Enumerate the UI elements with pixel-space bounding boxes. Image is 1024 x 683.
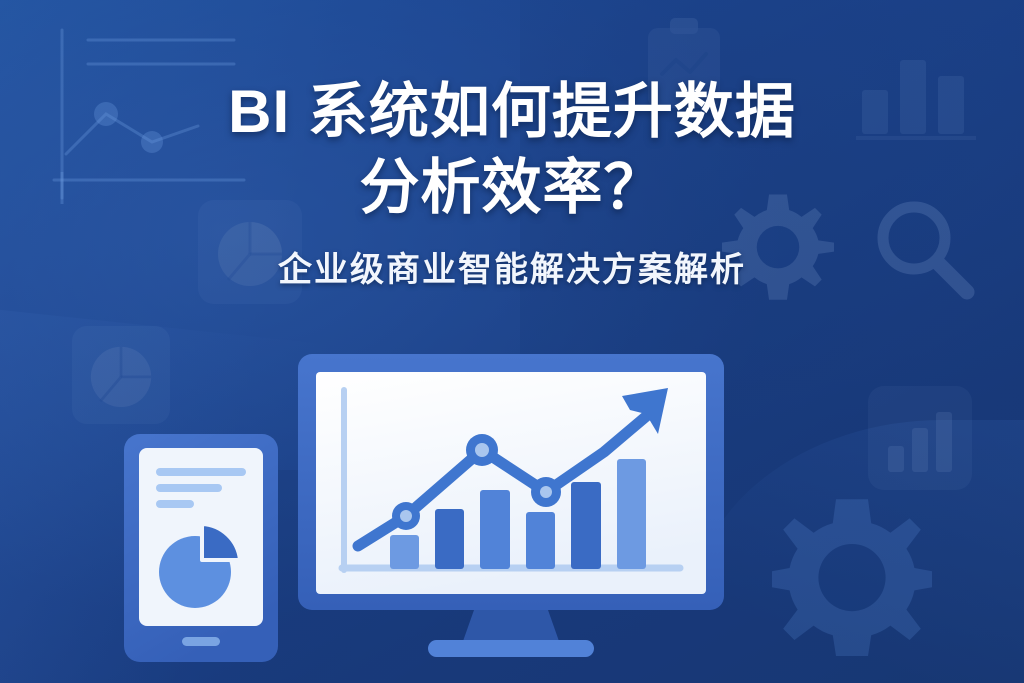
chart-bar xyxy=(571,482,601,569)
background-sweep-bottomright xyxy=(690,420,1024,683)
pie-chart-icon xyxy=(72,326,170,424)
monitor-illustration xyxy=(296,352,726,662)
tablet-text-line xyxy=(156,484,222,492)
tablet-text-line xyxy=(156,468,246,476)
chart-bar xyxy=(526,512,555,569)
gear-icon-large xyxy=(772,496,932,656)
tablet-illustration xyxy=(122,432,280,664)
page-subtitle: 企业级商业智能解决方案解析 xyxy=(0,248,1024,292)
chart-bar xyxy=(435,509,464,569)
banner-canvas: BI 系统如何提升数据 分析效率？ 企业级商业智能解决方案解析 xyxy=(0,0,1024,683)
chart-bar xyxy=(480,490,510,569)
monitor-stand xyxy=(462,610,560,644)
monitor-base xyxy=(428,640,594,657)
tablet-home-bar xyxy=(182,637,220,646)
chart-bar xyxy=(617,459,646,569)
headline-block: BI 系统如何提升数据 分析效率？ 企业级商业智能解决方案解析 xyxy=(0,74,1024,292)
tablet-text-line xyxy=(156,500,194,508)
bar-chart-square-icon xyxy=(868,386,972,490)
chart-bar xyxy=(390,535,419,569)
page-title-line-1: BI 系统如何提升数据 xyxy=(0,74,1024,150)
page-title-line-2: 分析效率？ xyxy=(0,150,1024,226)
